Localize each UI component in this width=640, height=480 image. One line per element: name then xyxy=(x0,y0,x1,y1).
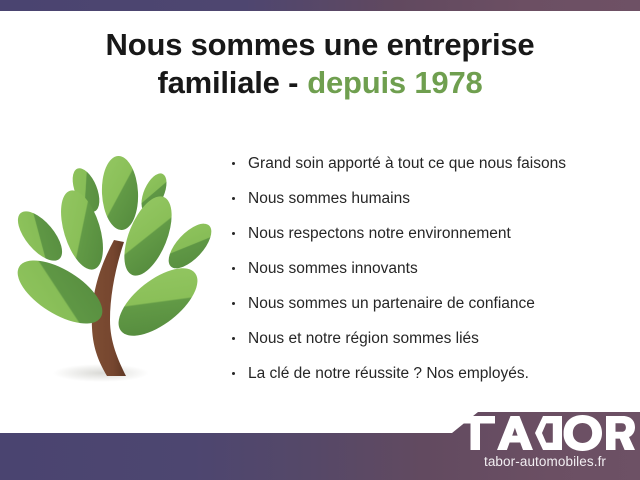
slide-root: Nous sommes une entreprise familiale -de… xyxy=(0,0,640,480)
headline-accent-year: depuis 1978 xyxy=(307,65,482,100)
list-item: Nous sommes innovants xyxy=(230,255,630,290)
leaf-low-right xyxy=(107,256,208,349)
leaf-mid-far-left xyxy=(10,204,70,268)
footer-brand-bar: tabor-automobiles.fr xyxy=(0,404,640,480)
top-accent-bar xyxy=(0,0,640,11)
list-item: Nous respectons notre environnement xyxy=(230,220,630,255)
list-item: Grand soin apporté à tout ce que nous fa… xyxy=(230,150,630,185)
tabor-logo[interactable]: tabor-automobiles.fr xyxy=(455,414,635,476)
headline-line-1: Nous sommes une entreprise xyxy=(0,26,640,64)
list-item: Nous et notre région sommes liés xyxy=(230,325,630,360)
headline-line-2-main: familiale - xyxy=(157,65,298,100)
list-item: La clé de notre réussite ? Nos employés. xyxy=(230,360,630,395)
headline-line-2: familiale -depuis 1978 xyxy=(0,64,640,102)
brand-website[interactable]: tabor-automobiles.fr xyxy=(455,454,635,469)
tree-illustration xyxy=(8,148,220,390)
list-item: Nous sommes humains xyxy=(230,185,630,220)
list-item: Nous sommes un partenaire de confiance xyxy=(230,290,630,325)
page-title: Nous sommes une entreprise familiale -de… xyxy=(0,26,640,102)
leaf-mid-left xyxy=(53,186,111,275)
tree-shadow xyxy=(53,364,149,382)
value-list: Grand soin apporté à tout ce que nous fa… xyxy=(230,150,630,395)
leaf-top-center xyxy=(100,155,140,231)
tabor-wordmark-icon xyxy=(455,415,635,451)
